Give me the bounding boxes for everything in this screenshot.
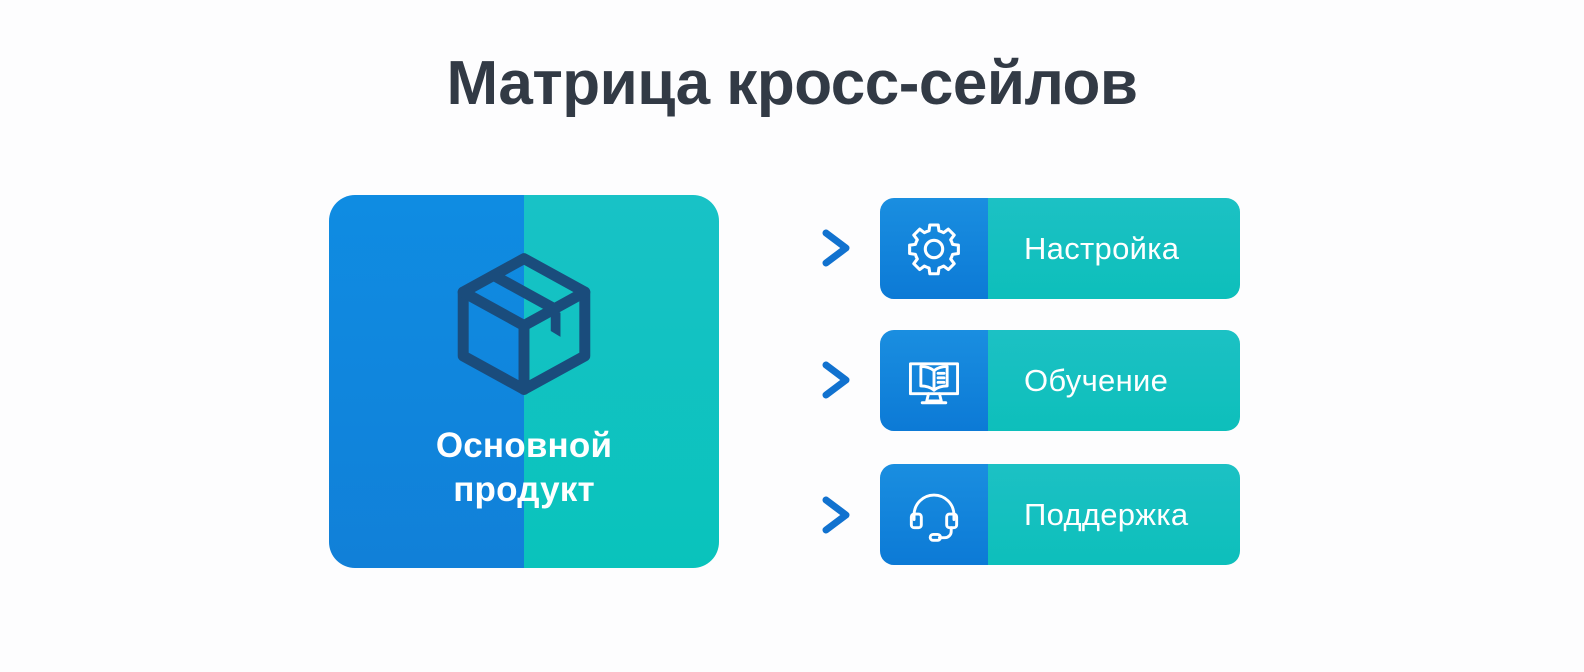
cross-sell-item-setup[interactable]: Настройка bbox=[880, 198, 1240, 299]
main-card-label: Основной продукт bbox=[329, 424, 719, 512]
headset-icon bbox=[905, 486, 963, 544]
cross-sell-label-support: Поддержка bbox=[1024, 496, 1188, 534]
arrow-to-support bbox=[740, 495, 858, 535]
page-title: Матрица кросс-сейлов bbox=[0, 48, 1584, 120]
book-monitor-icon bbox=[905, 352, 963, 410]
arrow-to-training bbox=[740, 360, 858, 400]
main-product-card[interactable]: Основной продукт bbox=[329, 195, 719, 568]
main-card-content: Основной продукт bbox=[329, 195, 719, 568]
cross-sell-label-setup: Настройка bbox=[1024, 230, 1179, 268]
infographic-canvas: Матрица кросс-сейлов bbox=[0, 0, 1584, 672]
cross-sell-item-support[interactable]: Поддержка bbox=[880, 464, 1240, 565]
main-card-label-line1: Основной bbox=[436, 426, 612, 465]
pill-body: Настройка bbox=[988, 198, 1240, 299]
pill-icon-pane bbox=[880, 198, 988, 299]
main-card-label-line2: продукт bbox=[453, 470, 595, 509]
cross-sell-label-training: Обучение bbox=[1024, 362, 1168, 400]
cross-sell-item-training[interactable]: Обучение bbox=[880, 330, 1240, 431]
pill-icon-pane bbox=[880, 464, 988, 565]
package-box-icon bbox=[448, 248, 600, 400]
gear-icon bbox=[905, 220, 963, 278]
pill-body: Поддержка bbox=[988, 464, 1240, 565]
arrow-to-setup bbox=[740, 228, 858, 268]
pill-body: Обучение bbox=[988, 330, 1240, 431]
pill-icon-pane bbox=[880, 330, 988, 431]
